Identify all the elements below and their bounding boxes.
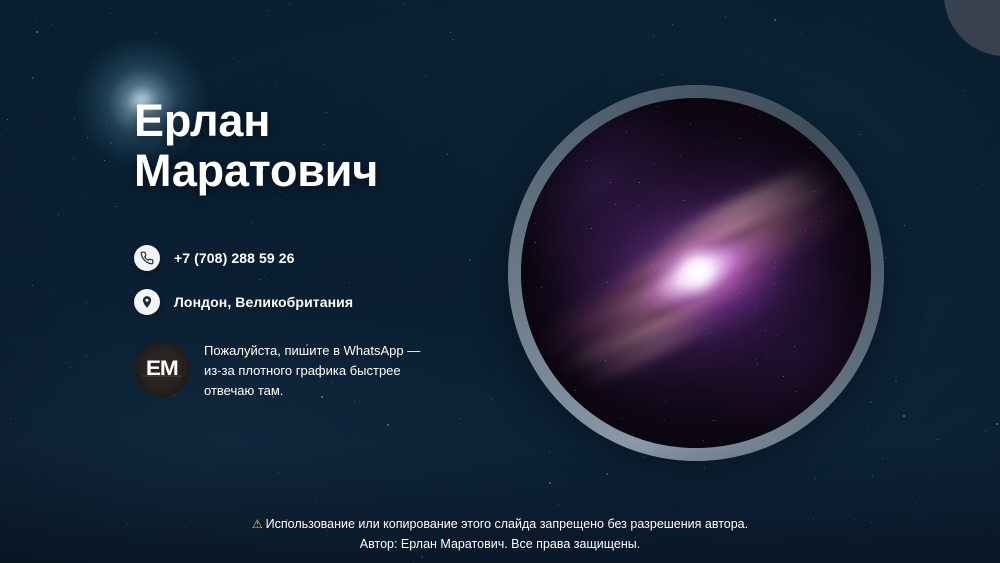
warning-triangle-icon: ⚠ bbox=[252, 517, 263, 531]
footer-line-2: Автор: Ерлан Маратович. Все права защище… bbox=[0, 535, 1000, 554]
title-line-2: Маратович bbox=[134, 145, 378, 196]
contact-row-location[interactable]: Лондон, Великобритания bbox=[134, 289, 464, 315]
galaxy-medallion bbox=[508, 85, 884, 461]
location-text: Лондон, Великобритания bbox=[174, 294, 353, 310]
whatsapp-note: EM STUDIO MARATOVICH Пожалуйста, пишите … bbox=[134, 341, 464, 401]
phone-icon bbox=[134, 245, 160, 271]
phone-number: +7 (708) 288 59 26 bbox=[174, 250, 295, 266]
footer-disclaimer: ⚠Использование или копирование этого сла… bbox=[0, 515, 1000, 554]
footer-line-1: ⚠Использование или копирование этого сла… bbox=[0, 515, 1000, 534]
page-title: Ерлан Маратович bbox=[134, 96, 464, 197]
contact-row-phone[interactable]: +7 (708) 288 59 26 bbox=[134, 245, 464, 271]
location-pin-icon bbox=[134, 289, 160, 315]
contact-list: +7 (708) 288 59 26 Лондон, Великобритани… bbox=[134, 245, 464, 315]
galaxy-photo bbox=[521, 98, 871, 448]
footer-text-1: Использование или копирование этого слай… bbox=[266, 517, 748, 531]
title-line-1: Ерлан bbox=[134, 95, 270, 146]
avatar: EM STUDIO MARATOVICH bbox=[134, 341, 190, 397]
left-content-column: Ерлан Маратович +7 (708) 288 59 26 bbox=[134, 96, 464, 401]
galaxy-edge-shade bbox=[521, 98, 871, 448]
note-text: Пожалуйста, пишите в WhatsApp — из-за пл… bbox=[204, 341, 434, 401]
monogram-subtitle: STUDIO MARATOVICH bbox=[134, 374, 190, 378]
presentation-slide: Ерлан Маратович +7 (708) 288 59 26 bbox=[0, 0, 1000, 563]
